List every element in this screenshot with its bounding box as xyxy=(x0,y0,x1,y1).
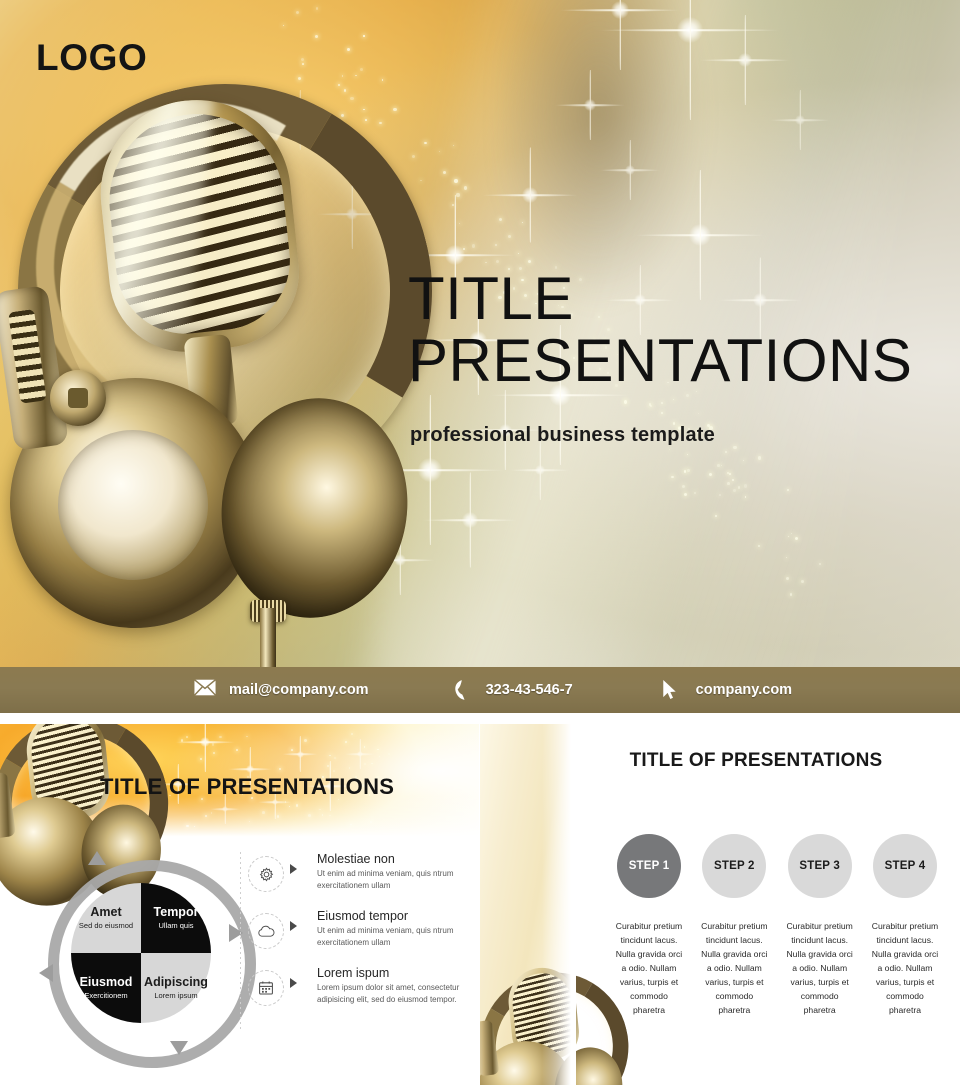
step-description: Curabitur pretium tincidunt lacus. Nulla… xyxy=(869,920,941,1017)
list-item-heading: Lorem ispum xyxy=(317,966,473,980)
contact-email-label: mail@company.com xyxy=(229,682,369,698)
dotted-divider xyxy=(240,852,241,1030)
cycle-quadrant-amet[interactable]: Amet Sed do eiusmod xyxy=(71,883,141,953)
chevron-right-icon xyxy=(290,864,311,874)
chevron-right-icon xyxy=(290,921,311,931)
sparkle-dot xyxy=(345,741,347,743)
presentation-template-preview: LOGO TITLE PRESENTATIONS professional bu… xyxy=(0,0,960,1085)
step-badge[interactable]: STEP 1 xyxy=(617,834,681,898)
step-badge[interactable]: STEP 4 xyxy=(873,834,937,898)
contact-phone-label: 323-43-546-7 xyxy=(486,682,573,698)
cycle-quadrant-title: Amet xyxy=(90,906,121,919)
step-item-1[interactable]: STEP 1 Curabitur pretium tincidunt lacus… xyxy=(612,834,686,1017)
logo: LOGO xyxy=(36,37,147,79)
hero-subtitle: professional business template xyxy=(410,424,715,447)
step-item-2[interactable]: STEP 2 Curabitur pretium tincidunt lacus… xyxy=(697,834,771,1017)
sparkle-dot xyxy=(364,763,366,765)
cycle-quadrant-eiusmod[interactable]: Eiusmod Exercitionem xyxy=(71,953,141,1023)
cycle-quadrant-subtitle: Ullam quis xyxy=(158,922,193,931)
cycle-arrow-top xyxy=(88,851,106,865)
step-description: Curabitur pretium tincidunt lacus. Nulla… xyxy=(613,920,685,1017)
sparkle-dot xyxy=(377,749,379,751)
contact-website-label: company.com xyxy=(696,682,792,698)
sparkle-dot xyxy=(351,733,354,736)
step-description: Curabitur pretium tincidunt lacus. Nulla… xyxy=(698,920,770,1017)
sparkle-dot xyxy=(364,746,365,747)
sparkle-dot xyxy=(219,736,221,738)
cycle-diagram: Amet Sed do eiusmod Tempor Ullam quis Ad… xyxy=(48,860,234,1046)
sparkle-dot xyxy=(181,739,183,741)
phone-icon xyxy=(451,679,473,701)
slide-steps[interactable]: TITLE OF PRESENTATIONS STEP 1 Curabitur … xyxy=(480,724,960,1085)
contact-email[interactable]: mail@company.com xyxy=(194,679,369,701)
page-title: TITLE PRESENTATIONS xyxy=(408,268,948,392)
cycle-arrow-bottom xyxy=(170,1041,188,1055)
calendar-icon xyxy=(248,970,284,1006)
sparkle-dot xyxy=(186,736,188,738)
step-item-4[interactable]: STEP 4 Curabitur pretium tincidunt lacus… xyxy=(868,834,942,1017)
list-item[interactable]: Eiusmod tempor Ut enim ad minima veniam,… xyxy=(248,909,473,949)
feature-list: Molestiae non Ut enim ad minima veniam, … xyxy=(248,852,473,1023)
hero-slide: LOGO TITLE PRESENTATIONS professional bu… xyxy=(0,0,960,667)
contact-website[interactable]: company.com xyxy=(661,679,792,701)
list-item-body: Ut enim ad minima veniam, quis ntrum exe… xyxy=(317,925,473,948)
slide-right-title: TITLE OF PRESENTATIONS xyxy=(480,750,960,772)
list-item-heading: Eiusmod tempor xyxy=(317,909,473,923)
sparkle-dot xyxy=(236,749,238,751)
cycle-quadrant-adipiscing[interactable]: Adipiscing Lorem ipsum xyxy=(141,953,211,1023)
sparkle-dot xyxy=(334,757,337,760)
list-item-body: Ut enim ad minima veniam, quis ntrum exe… xyxy=(317,868,473,891)
sparkle-dot xyxy=(349,767,351,769)
sparkle-dot xyxy=(212,743,214,745)
cycle-quadrant-tempor[interactable]: Tempor Ullam quis xyxy=(141,883,211,953)
cycle-quadrant-subtitle: Exercitionem xyxy=(84,992,127,1001)
step-badge[interactable]: STEP 3 xyxy=(788,834,852,898)
contact-phone[interactable]: 323-43-546-7 xyxy=(451,679,573,701)
cloud-icon xyxy=(248,913,284,949)
cycle-arrow-left xyxy=(39,964,53,982)
contact-bar: mail@company.com 323-43-546-7 company.co… xyxy=(0,667,960,713)
cycle-quadrant-title: Adipiscing xyxy=(144,976,208,989)
list-item[interactable]: Lorem ispum Lorem ipsum dolor sit amet, … xyxy=(248,966,473,1006)
gear-icon xyxy=(248,856,284,892)
microphone-headphones-artwork xyxy=(0,78,422,667)
slide-right-side-strip xyxy=(480,724,576,1085)
sparkle-dot xyxy=(304,739,307,742)
sparkle-dot xyxy=(246,736,248,738)
sparkle-dot xyxy=(279,768,281,770)
title-line-2: PRESENTATIONS xyxy=(408,330,948,392)
sparkle-dot xyxy=(371,763,372,764)
sparkle-dot xyxy=(329,755,331,757)
envelope-icon xyxy=(194,679,216,701)
sparkle-dot xyxy=(379,756,380,757)
sparkle-dot xyxy=(291,749,293,751)
step-description: Curabitur pretium tincidunt lacus. Nulla… xyxy=(784,920,856,1017)
sparkle-dot xyxy=(333,770,335,772)
sparkle-dot xyxy=(388,753,390,755)
sparkle-dot xyxy=(213,752,215,754)
list-item-heading: Molestiae non xyxy=(317,852,473,866)
step-item-3[interactable]: STEP 3 Curabitur pretium tincidunt lacus… xyxy=(783,834,857,1017)
slide-left-title: TITLE OF PRESENTATIONS xyxy=(100,774,394,800)
chevron-right-icon xyxy=(290,978,311,988)
step-badge[interactable]: STEP 2 xyxy=(702,834,766,898)
cycle-quadrant-title: Eiusmod xyxy=(80,976,133,989)
slide-thumbnails: TITLE OF PRESENTATIONS Amet Sed do eiusm… xyxy=(0,724,960,1085)
cycle-quadrant-subtitle: Lorem ipsum xyxy=(154,992,197,1001)
cycle-quadrant-title: Tempor xyxy=(154,906,199,919)
slide-cycle-diagram[interactable]: TITLE OF PRESENTATIONS Amet Sed do eiusm… xyxy=(0,724,480,1085)
title-line-1: TITLE xyxy=(408,268,948,330)
sparkle-dot xyxy=(200,758,202,760)
steps-row: STEP 1 Curabitur pretium tincidunt lacus… xyxy=(612,834,942,1017)
list-item[interactable]: Molestiae non Ut enim ad minima veniam, … xyxy=(248,852,473,892)
list-item-body: Lorem ipsum dolor sit amet, consectetur … xyxy=(317,982,473,1005)
cycle-quadrant-subtitle: Sed do eiusmod xyxy=(79,922,133,931)
cursor-icon xyxy=(661,679,683,701)
